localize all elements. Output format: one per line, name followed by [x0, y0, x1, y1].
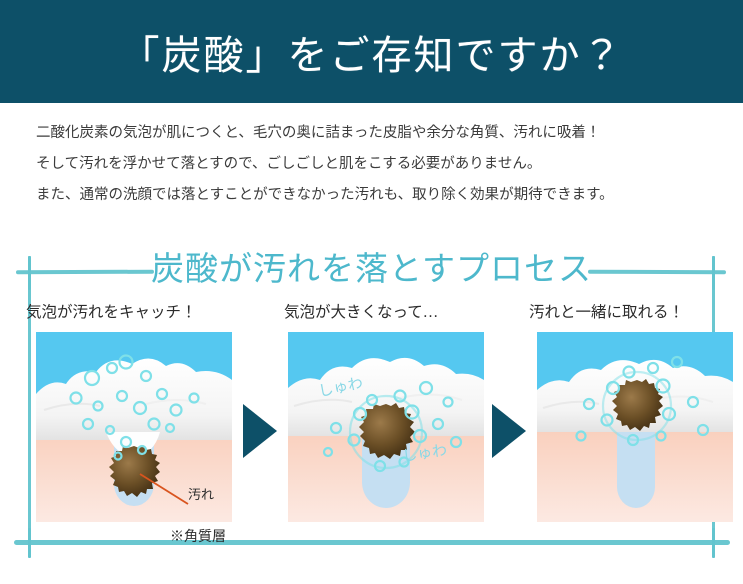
intro-line-2: そして汚れを浮かせて落とすので、ごしごしと肌をこする必要がありません。	[36, 149, 726, 180]
frame-corner-tick-bottom-left	[28, 528, 31, 558]
page-header: 「炭酸」をご存知ですか？	[0, 0, 743, 103]
frame-corner-tick-bottom-right	[712, 528, 715, 558]
process-section: 炭酸が汚れを落とすプロセス 気泡が汚れをキャッチ！ 気泡が大きくなって… 汚れと…	[0, 248, 743, 578]
step-arrow-1-icon	[243, 404, 277, 458]
process-title: 炭酸が汚れを落とすプロセス	[0, 248, 743, 292]
step-captions: 気泡が汚れをキャッチ！ 気泡が大きくなって… 汚れと一緒に取れる！	[0, 300, 743, 326]
page-title: 「炭酸」をご存知ですか？	[120, 23, 624, 81]
intro-line-3: また、通常の洗顔では落とすことができなかった汚れも、取り除く効果が期待できます。	[36, 180, 726, 211]
step-2-caption: 気泡が大きくなって…	[284, 300, 438, 322]
keratin-layer-note: ※角質層	[170, 526, 226, 546]
step-3-caption: 汚れと一緒に取れる！	[529, 300, 684, 322]
intro-paragraph: 二酸化炭素の気泡が肌につくと、毛穴の奥に詰まった皮脂や余分な角質、汚れに吸着！ …	[36, 118, 726, 211]
step-1-caption: 気泡が汚れをキャッチ！	[26, 300, 197, 322]
step-3-illustration	[537, 332, 733, 522]
step-illustrations: 汚れ	[0, 332, 743, 532]
dirt-label: 汚れ	[188, 484, 214, 503]
step-2-illustration: しゅわ しゅわ	[288, 332, 484, 522]
intro-line-1: 二酸化炭素の気泡が肌につくと、毛穴の奥に詰まった皮脂や余分な角質、汚れに吸着！	[36, 118, 726, 149]
step-1-illustration: 汚れ	[36, 332, 232, 522]
frame-bottom-line	[14, 540, 730, 545]
step-arrow-2-icon	[492, 404, 526, 458]
